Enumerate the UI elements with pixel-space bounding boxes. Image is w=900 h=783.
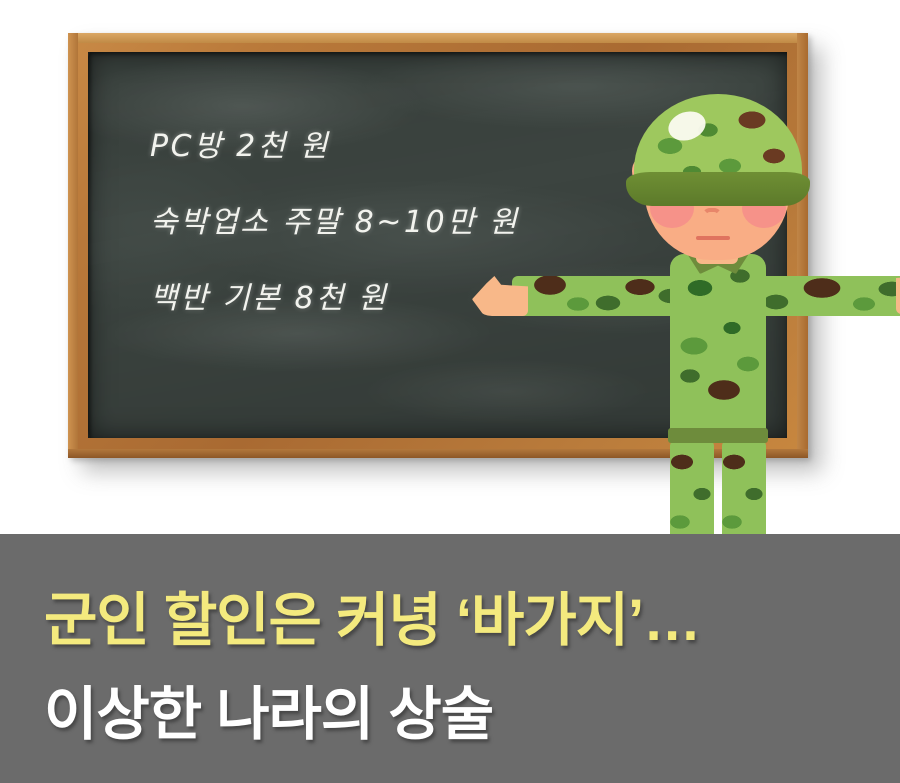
caption-banner: 군인 할인은 커녕 ‘바가지’… 이상한 나라의 상술	[0, 534, 900, 783]
soldier-right-leg	[722, 440, 766, 534]
screenshot-root: PC방 2천 원 숙박업소 주말 8~10만 원 백반 기본 8천 원	[0, 0, 900, 783]
soldier-nose	[702, 208, 722, 219]
soldier-torso	[670, 254, 766, 440]
headline-line-1: 군인 할인은 커녕 ‘바가지’…	[44, 592, 700, 650]
soldier-right-hand	[896, 274, 900, 314]
soldier-helmet-brim	[626, 172, 810, 206]
headline-line-2: 이상한 나라의 상술	[44, 686, 493, 744]
soldier-character	[490, 84, 900, 534]
soldier-left-leg	[670, 440, 714, 534]
soldier-mouth	[696, 236, 730, 240]
chalkboard-frame-left-edge	[68, 33, 78, 458]
soldier-belt	[668, 428, 768, 443]
soldier-right-arm	[752, 276, 900, 316]
photo-area: PC방 2천 원 숙박업소 주말 8~10만 원 백반 기본 8천 원	[0, 0, 900, 534]
